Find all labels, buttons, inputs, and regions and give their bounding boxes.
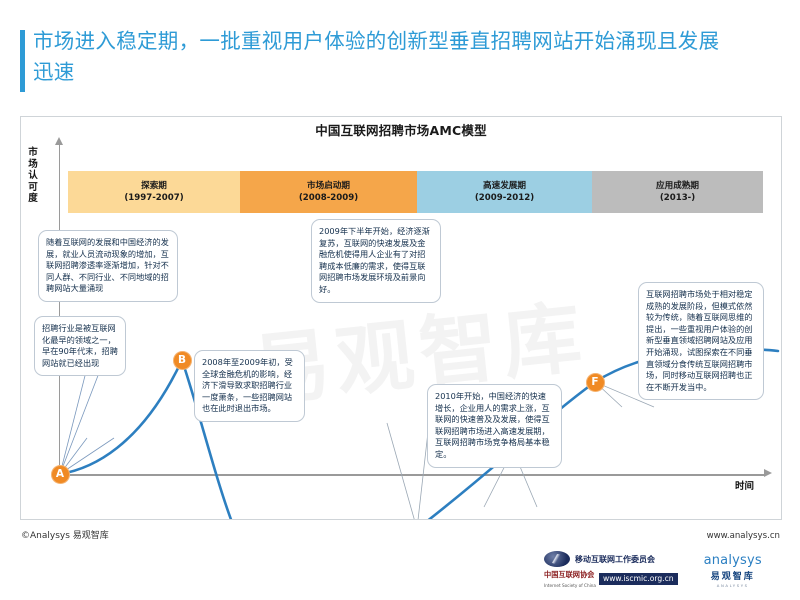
iscmic-assoc-en: Internet Society of China [544,583,596,588]
iscmic-assoc: 中国互联网协会 Internet Society of China [544,568,596,589]
iscmic-assoc-zh: 中国互联网协会 [544,570,594,579]
curve-marker-b[interactable]: B [173,351,192,370]
page-header: 市场进入稳定期，一批重视用户体验的创新型垂直招聘网站开始涌现且发展迅速 [20,26,720,88]
annotation-note-2: 招聘行业是被互联网化最早的领域之一，早在90年代末，招聘网站就已经出现 [34,316,126,376]
iscmic-logo-bottom: 中国互联网协会 Internet Society of China www.is… [544,568,678,589]
analysys-sub: ANALYSYS [717,583,749,588]
iscmic-logo: 移动互联网工作委员会 中国互联网协会 Internet Society of C… [544,551,678,589]
footer-copyright: ©Analysys 易观智库 [21,528,109,541]
footer-website: www.analysys.cn [707,531,780,541]
header-accent-bar [20,30,25,92]
annotation-note-6: 互联网招聘市场处于相对稳定成熟的发展阶段，但模式依然较为传统，随着互联网思维的提… [638,282,764,400]
analysys-zh: 易观智库 [711,569,755,582]
globe-icon [544,551,570,567]
page-title: 市场进入稳定期，一批重视用户体验的创新型垂直招聘网站开始涌现且发展迅速 [33,26,720,88]
annotation-note-5: 2010年开始，中国经济的快速增长，企业用人的需求上涨，互联网的快速普及及发展，… [427,384,562,468]
iscmic-url-badge[interactable]: www.iscmic.org.cn [599,573,678,585]
curve-marker-a[interactable]: A [51,465,70,484]
footer-logo-group: 移动互联网工作委员会 中国互联网协会 Internet Society of C… [544,548,784,592]
chart-container: 中国互联网招聘市场AMC模型 易观智库 市场认可度 时间 探索期 (1997-2… [20,116,782,520]
curve-marker-f[interactable]: F [586,373,605,392]
analysys-wordmark: analysys [704,553,762,568]
curve-marker-d[interactable]: D [408,520,427,521]
annotation-note-1: 随着互联网的发展和中国经济的发展，就业人员流动现象的增加，互联网招聘渗透率逐渐增… [38,230,178,302]
iscmic-logo-top: 移动互联网工作委员会 [544,551,678,567]
annotation-note-3: 2008年至2009年初，受全球金融危机的影响，经济下滑导致求职招聘行业一度萧条… [194,350,305,422]
analysys-logo: analysys 易观智库 ANALYSYS [704,553,762,588]
iscmic-committee-label: 移动互联网工作委员会 [575,554,655,565]
annotation-note-4: 2009年下半年开始，经济逐渐复苏，互联网的快速发展及金融危机使得用人企业有了对… [311,219,441,303]
